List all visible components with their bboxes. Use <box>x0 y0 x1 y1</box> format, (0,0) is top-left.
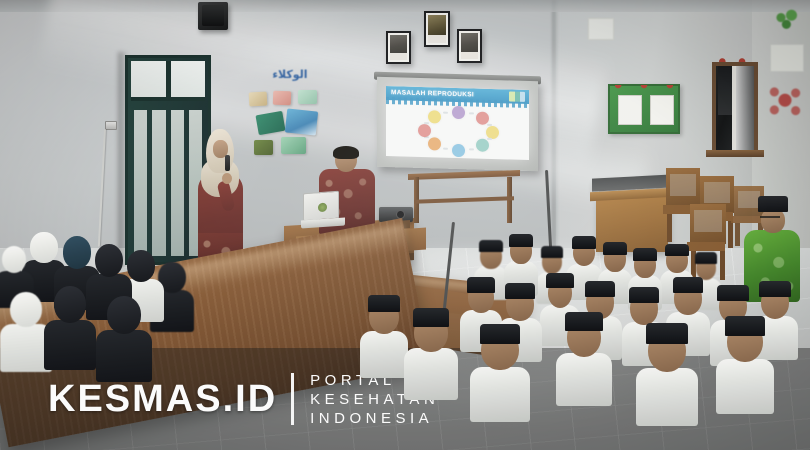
table-under-screen <box>408 172 520 222</box>
microphone <box>225 155 230 171</box>
slide-circular-diagram <box>416 107 500 155</box>
peci-cap <box>725 316 764 336</box>
peci-cap <box>758 196 788 212</box>
student-body <box>556 353 612 406</box>
wall-decoration-red <box>766 84 804 120</box>
student-body <box>636 368 698 426</box>
slide-diagram-node <box>418 123 431 136</box>
watermark-brand: KESMAS.ID <box>48 380 277 418</box>
presenter-hand <box>222 173 232 184</box>
eyeglasses-icon <box>760 216 780 220</box>
laptop-lid <box>303 191 339 222</box>
portrait-garuda-emblem <box>424 11 450 47</box>
window-daylight <box>735 66 754 150</box>
chair-back-gap <box>694 210 721 232</box>
craft-paper <box>285 108 318 135</box>
male-student <box>404 314 458 400</box>
slide-diagram-node <box>428 110 441 123</box>
student-body <box>716 359 774 414</box>
slide-diagram-node <box>486 125 499 138</box>
window <box>712 62 758 154</box>
wall-arabic-lettering: الوكلاء <box>258 68 322 81</box>
notice-board-decoration <box>610 85 678 93</box>
female-student <box>96 296 152 382</box>
craft-paper <box>298 90 317 104</box>
peci-cap <box>505 283 535 299</box>
portrait-matte <box>428 35 446 43</box>
peci-cap <box>509 234 532 247</box>
door-transom-window <box>131 61 205 101</box>
student-head <box>10 292 42 327</box>
door-panel <box>152 110 165 256</box>
slide-diagram-connector <box>469 113 474 115</box>
peci-cap <box>633 248 656 261</box>
slide-title: MASALAH REPRODUKSI <box>391 87 474 101</box>
laptop-logo-icon <box>318 203 327 213</box>
slide-diagram-connector <box>443 112 448 114</box>
wall-loudspeaker <box>198 2 228 30</box>
peci-cap <box>759 281 790 297</box>
student-body <box>470 367 530 422</box>
table-rail <box>414 196 514 203</box>
photograph: الوكلاء MASALA <box>0 0 810 450</box>
peci-cap <box>480 324 521 344</box>
green-notice-board <box>608 84 680 134</box>
peci-cap <box>665 244 688 256</box>
peci-cap <box>541 246 563 258</box>
student-head <box>107 296 142 334</box>
window-curtain <box>718 66 733 115</box>
male-student <box>716 322 774 414</box>
peci-cap <box>646 323 688 344</box>
slide-diagram-connector <box>443 147 448 149</box>
student-head <box>2 246 27 273</box>
student-body <box>96 330 152 382</box>
chair-back <box>666 168 700 206</box>
laptop <box>303 192 345 230</box>
slide-diagram-connector <box>487 138 492 140</box>
peci-cap <box>368 295 401 312</box>
student-head <box>54 286 86 323</box>
slide-diagram-connector <box>469 148 474 150</box>
slide-diagram-node <box>452 105 465 118</box>
peci-cap <box>546 273 573 288</box>
window-sill <box>706 150 764 157</box>
peci-cap <box>572 236 596 249</box>
watermark-line-3: INDONESIA <box>310 409 439 428</box>
watermark-divider <box>291 373 294 425</box>
peci-cap <box>717 285 748 302</box>
portrait-matte <box>461 52 478 60</box>
peci-cap <box>603 242 626 255</box>
chair-back <box>690 204 726 244</box>
craft-paper <box>249 92 268 107</box>
male-student <box>636 330 698 426</box>
door-panel <box>171 110 184 256</box>
peci-cap <box>479 240 502 252</box>
male-student <box>360 300 408 378</box>
peci-cap <box>585 281 615 297</box>
student-body <box>44 320 96 370</box>
portrait-matte <box>390 53 407 60</box>
slide-diagram-node <box>452 143 465 156</box>
male-student <box>470 330 530 422</box>
chair-back-gap <box>670 174 696 196</box>
peci-cap <box>629 287 659 303</box>
peci-cap <box>467 277 496 292</box>
notice-paper <box>618 95 642 125</box>
portrait-vice-president <box>457 29 482 63</box>
peci-cap <box>413 308 450 327</box>
door-glass-panels <box>134 110 202 256</box>
wall-note <box>588 18 614 40</box>
wall-decoration-green <box>772 8 802 32</box>
craft-paper <box>273 91 291 106</box>
wall-power-socket <box>105 121 117 130</box>
student-body <box>360 331 408 378</box>
presentation-slide: MASALAH REPRODUKSI <box>386 86 529 160</box>
peci-cap <box>695 252 717 264</box>
table-top <box>408 170 520 180</box>
female-student <box>44 286 96 370</box>
male-student <box>556 318 612 406</box>
slide-diagram-connector <box>424 122 429 124</box>
craft-paper <box>254 140 273 155</box>
student-head <box>95 244 124 277</box>
peci-cap <box>565 312 603 331</box>
laptop-base <box>301 217 345 228</box>
presenter-hair <box>333 146 359 159</box>
portrait-president <box>386 31 411 64</box>
slide-diagram-node <box>428 137 441 150</box>
slide-diagram-node <box>476 138 489 151</box>
slide-logo <box>509 91 525 101</box>
peci-cap <box>673 277 703 293</box>
notice-paper <box>650 95 674 125</box>
slide-diagram-connector <box>424 136 429 138</box>
window-mullion <box>732 66 736 150</box>
craft-paper <box>281 137 306 154</box>
wall-poster <box>770 44 804 72</box>
chair-back-gap <box>704 182 730 203</box>
student-body <box>404 348 458 400</box>
door-panel <box>134 110 147 256</box>
